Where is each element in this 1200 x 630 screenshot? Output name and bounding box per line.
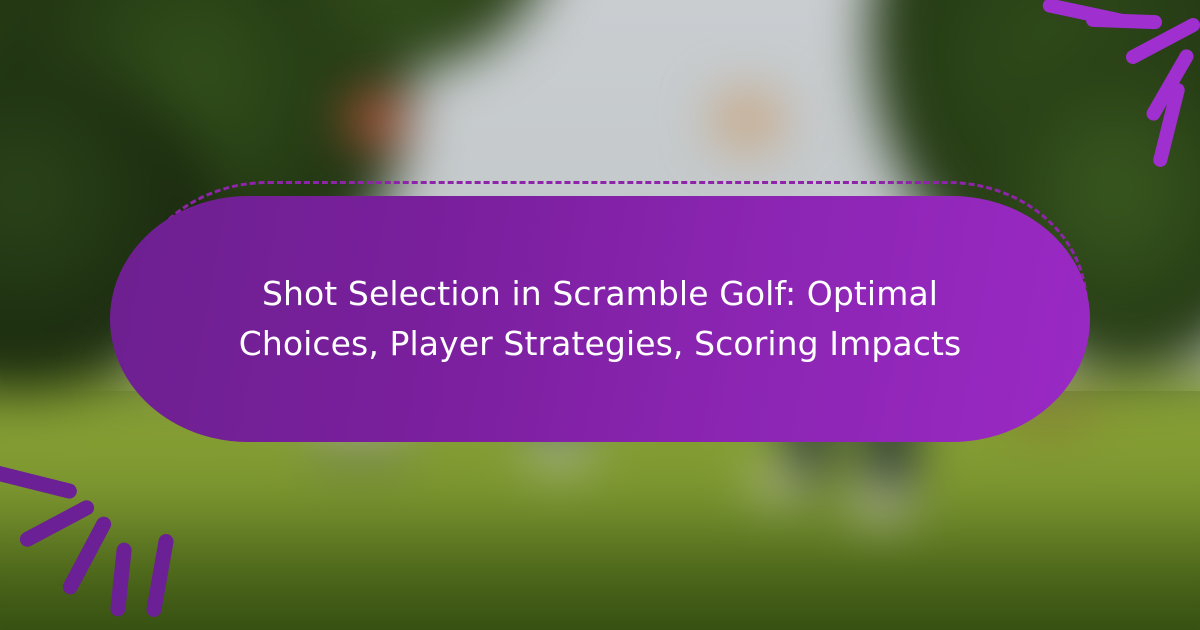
sparkle-burst-bottom-left bbox=[0, 460, 190, 630]
sparkle-ray bbox=[110, 542, 133, 617]
golfer-silhouette bbox=[852, 488, 910, 516]
sparkle-ray bbox=[0, 463, 78, 500]
golfer-silhouette bbox=[756, 468, 806, 494]
sparkle-ray bbox=[60, 514, 114, 597]
page-title: Shot Selection in Scramble Golf: Optimal… bbox=[230, 269, 970, 369]
sparkle-ray bbox=[145, 533, 174, 618]
golfer-silhouette bbox=[344, 90, 406, 148]
sparkle-burst-top-right bbox=[1030, 0, 1200, 160]
share-card-canvas: Shot Selection in Scramble Golf: Optimal… bbox=[0, 0, 1200, 630]
title-card: Shot Selection in Scramble Golf: Optimal… bbox=[110, 196, 1090, 442]
golfer-silhouette bbox=[710, 90, 784, 150]
sparkle-ray bbox=[1086, 13, 1162, 30]
